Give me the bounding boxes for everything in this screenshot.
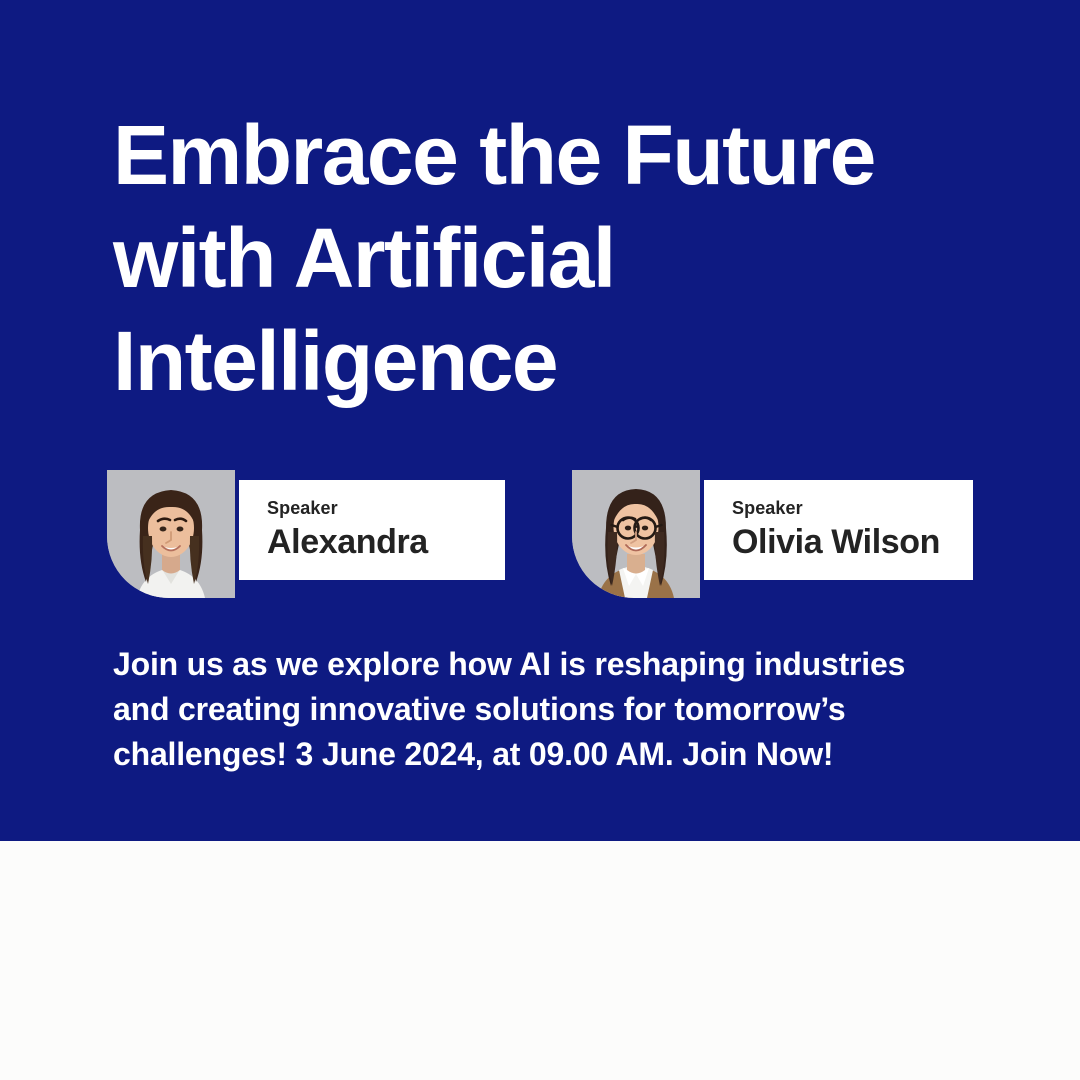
speaker-list: Speaker Alexandra: [107, 470, 973, 600]
poster-canvas: Embrace the Future with Artificial Intel…: [0, 0, 1080, 1080]
speaker-namecard: Speaker Olivia Wilson: [704, 480, 973, 580]
avatar: [572, 470, 700, 598]
avatar: [107, 470, 235, 598]
speaker-name: Olivia Wilson: [732, 521, 973, 563]
speaker-role-label: Speaker: [732, 497, 973, 519]
speaker-name: Alexandra: [267, 521, 505, 563]
hero-section: Embrace the Future with Artificial Intel…: [0, 0, 1080, 841]
speaker-role-label: Speaker: [267, 497, 505, 519]
speaker-card-olivia-wilson[interactable]: Speaker Olivia Wilson: [572, 470, 973, 600]
page-title: Embrace the Future with Artificial Intel…: [113, 104, 1013, 413]
footer-section: Capcut Free Registration! Follow our soc…: [0, 841, 1080, 1080]
event-description: Join us as we explore how AI is reshapin…: [113, 642, 993, 777]
speaker-namecard: Speaker Alexandra: [239, 480, 505, 580]
speaker-card-alexandra[interactable]: Speaker Alexandra: [107, 470, 505, 600]
